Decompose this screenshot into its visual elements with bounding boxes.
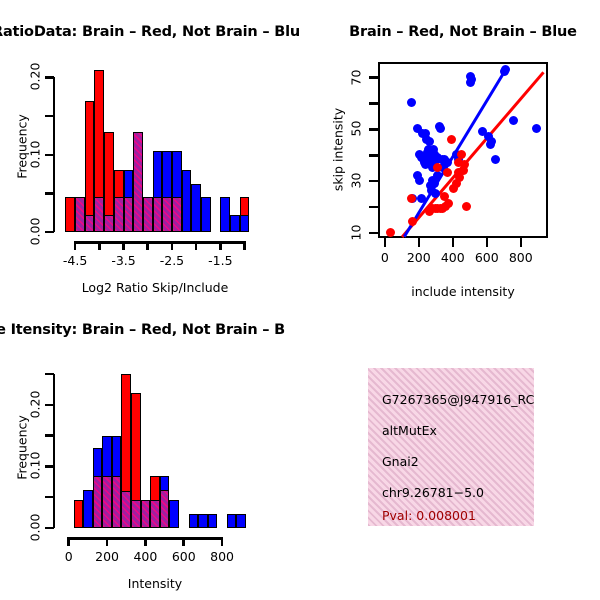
info-gene-symbol: Gnai2: [382, 454, 419, 469]
info-pvalue: Pval: 0.008001: [382, 508, 476, 523]
histogram-bar: [198, 514, 208, 528]
histogram-bar: [189, 514, 199, 528]
info-event-type: altMutEx: [382, 423, 437, 438]
x-axis-tick: [221, 537, 224, 546]
intensity-histogram-x-axis-label: Intensity: [45, 576, 265, 591]
intensity-histogram-title: ne Itensity: Brain – Red, Not Brain – B: [0, 322, 285, 338]
histogram-bar: [121, 491, 131, 528]
histogram-bar: [160, 490, 170, 528]
y-axis-tick-label: 0.00: [28, 508, 43, 548]
histogram-bar: [102, 476, 112, 528]
histogram-bar: [150, 500, 160, 528]
histogram-bar: [131, 500, 141, 528]
x-axis-tick-label: 800: [197, 549, 247, 564]
y-axis-line: [53, 374, 55, 528]
histogram-bar: [208, 514, 218, 528]
histogram-bar: [169, 500, 179, 528]
histogram-bar: [227, 514, 237, 528]
info-locus: chr9.26781−5.0: [382, 485, 484, 500]
x-axis-tick: [182, 537, 185, 546]
y-axis-tick-label: 0.20: [28, 384, 43, 424]
histogram-bar: [74, 500, 84, 528]
y-axis-tick: [45, 527, 54, 529]
histogram-bar: [141, 500, 151, 528]
y-axis-tick: [45, 465, 54, 467]
x-axis-tick: [144, 537, 147, 546]
histogram-bar: [236, 514, 246, 528]
histogram-bar: [83, 490, 93, 528]
x-axis-tick: [106, 537, 109, 546]
histogram-bar: [112, 476, 122, 528]
y-axis-tick: [45, 496, 54, 498]
y-axis-tick: [45, 404, 54, 406]
x-axis-tick: [67, 537, 70, 546]
y-axis-tick: [45, 434, 54, 436]
intensity-histogram-bars: [63, 368, 247, 528]
y-axis-tick: [45, 373, 54, 375]
info-probe-id: G7267365@J947916_RC: [382, 392, 534, 407]
y-axis-tick-label: 0.10: [28, 446, 43, 486]
gene-info-panel: G7267365@J947916_RC altMutEx Gnai2 chr9.…: [368, 368, 534, 526]
histogram-bar: [93, 476, 103, 528]
